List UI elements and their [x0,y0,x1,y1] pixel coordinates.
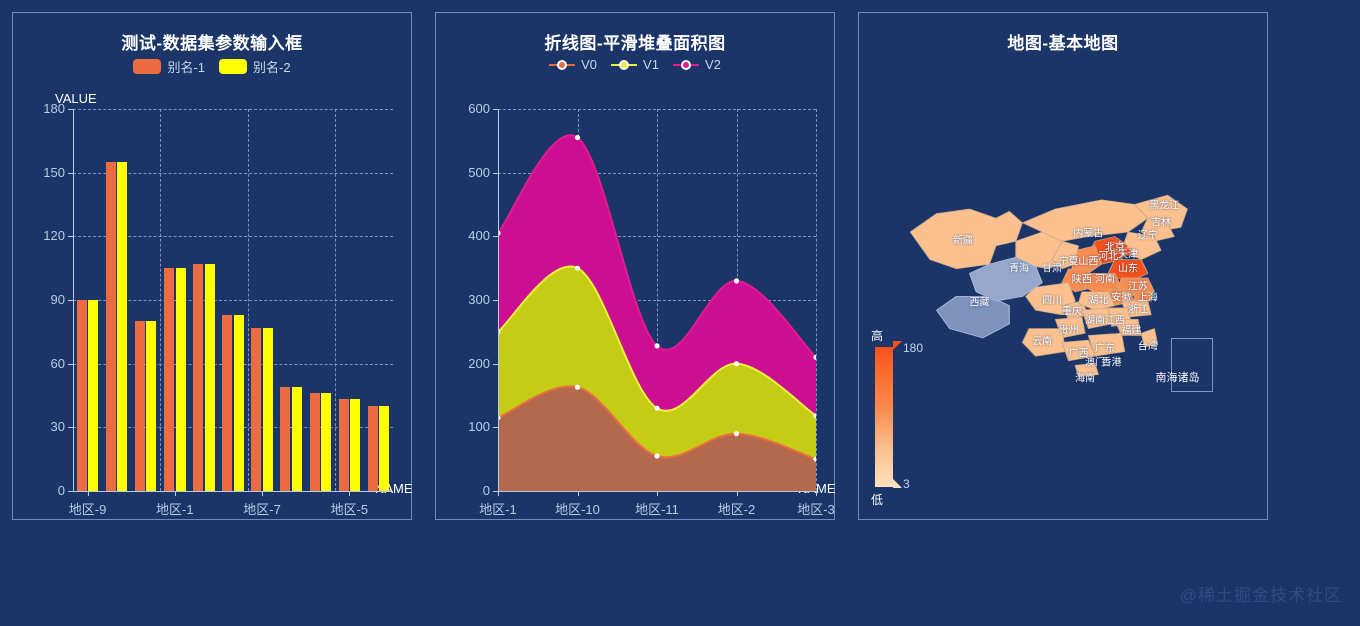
y-tick-label: 500 [442,165,490,180]
map-label-吉林: 吉林 [1151,213,1171,228]
area-chart-plot [498,109,816,491]
data-point-V2-2[interactable] [654,343,659,348]
x-tick-label: 地区-1 [135,499,215,518]
legend-label-v2: V2 [705,57,721,72]
x-tick-mark [88,491,89,496]
map-label-贵州: 贵州 [1059,321,1079,336]
bar-别名-2-8[interactable] [321,393,331,491]
y-tick-label: 400 [442,228,490,243]
y-tick-label: 90 [19,292,65,307]
map-label-福建: 福建 [1121,321,1141,336]
map-label-台湾: 台湾 [1138,337,1158,352]
map-label-甘肃: 甘肃 [1042,259,1062,274]
panel-map-chart: 地图-基本地图 新疆黑龙江吉林辽宁内蒙古北京天津河北山西山东宁夏甘肃青海西藏陕西… [858,12,1268,520]
grid-line-vertical [335,109,336,491]
map-label-辽宁: 辽宁 [1138,227,1158,242]
legend-item-series-1[interactable]: 别名-1 [133,57,205,76]
y-tick-label: 0 [442,483,490,498]
y-tick-label: 0 [19,483,65,498]
bar-别名-2-6[interactable] [263,328,273,491]
x-tick-mark [578,491,579,496]
legend-item-v2[interactable]: V2 [673,57,721,72]
map-label-四川: 四川 [1042,291,1062,306]
bar-别名-1-6[interactable] [251,328,261,491]
bar-别名-1-9[interactable] [339,399,349,491]
x-tick-label: 地区-5 [309,499,389,518]
bar-别名-1-3[interactable] [164,268,174,491]
map-label-新疆: 新疆 [953,231,973,246]
visual-map-high-label: 高 [871,327,883,344]
map-label-香港: 香港 [1102,353,1122,368]
data-point-V1-3[interactable] [734,361,739,366]
y-tick-label: 100 [442,419,490,434]
data-point-V1-2[interactable] [654,406,659,411]
visual-map-low-label: 低 [871,491,883,508]
bar-别名-1-2[interactable] [135,321,145,491]
grid-line-vertical [160,109,161,491]
bar-别名-2-9[interactable] [350,399,360,491]
bar-别名-2-4[interactable] [205,264,215,491]
bar-别名-2-5[interactable] [234,315,244,491]
bar-别名-2-2[interactable] [146,321,156,491]
map-label-河南: 河南 [1095,271,1115,286]
visual-map-legend[interactable]: 高 低 180 3 [869,325,949,515]
x-tick-label: 地区-3 [776,499,856,518]
map-label-天津: 天津 [1118,245,1138,260]
visual-map-low-handle-icon [893,479,902,488]
stacked-area-series [498,109,816,491]
map-label-浙江: 浙江 [1128,300,1148,315]
legend-item-series-2[interactable]: 别名-2 [219,57,291,76]
area-chart-title: 折线图-平滑堆叠面积图 [436,29,834,54]
grid-line-vertical [816,109,817,491]
x-tick-label: 地区-10 [538,499,618,518]
map-label-南海诸岛: 南海诸岛 [1156,369,1200,385]
y-tick-label: 180 [19,101,65,116]
x-tick-mark [816,491,817,496]
legend-item-v1[interactable]: V1 [611,57,659,72]
map-label-陕西: 陕西 [1072,271,1092,286]
x-tick-label: 地区-1 [458,499,538,518]
map-label-内蒙古: 内蒙古 [1073,225,1103,240]
x-tick-label: 地区-9 [48,499,128,518]
area-chart-legend: V0 V1 V2 [436,57,834,72]
map-label-广东: 广东 [1095,340,1115,355]
data-point-V0-2[interactable] [654,453,659,458]
visual-map-max-value: 180 [903,341,923,355]
legend-line-icon [549,59,575,71]
map-label-湖北: 湖北 [1088,291,1108,306]
data-point-V0-1[interactable] [575,385,580,390]
map-label-湖南: 湖南 [1085,312,1105,327]
bar-别名-1-0[interactable] [77,300,87,491]
legend-line-icon [611,59,637,71]
visual-map-min-value: 3 [903,477,910,491]
x-tick-label: 地区-2 [697,499,777,518]
grid-line-vertical [248,109,249,491]
legend-label-series-2: 别名-2 [253,57,291,76]
legend-item-v0[interactable]: V0 [549,57,597,72]
bar-别名-1-8[interactable] [310,393,320,491]
y-tick-label: 200 [442,356,490,371]
bar-chart-legend: 别名-1 别名-2 [13,57,411,76]
x-tick-mark [737,491,738,496]
legend-swatch-icon [133,59,161,74]
x-tick-mark [498,491,499,496]
x-tick-mark [657,491,658,496]
bar-别名-2-10[interactable] [379,406,389,491]
panel-area-chart: 折线图-平滑堆叠面积图 V0 V1 V2 NAME [435,12,835,520]
y-tick-label: 150 [19,165,65,180]
y-axis-line [73,109,74,491]
y-tick-label: 60 [19,356,65,371]
visual-map-high-handle-icon [893,341,902,350]
bar-别名-1-10[interactable] [368,406,378,491]
map-label-山西: 山西 [1078,252,1098,267]
dashboard-root: 测试-数据集参数输入框 别名-1 别名-2 VALUE NAME 0306090… [0,0,1360,626]
map-label-河北: 河北 [1098,248,1118,263]
x-tick-label: 地区-7 [222,499,302,518]
legend-line-icon [673,59,699,71]
x-axis-line [73,491,393,492]
legend-label-v0: V0 [581,57,597,72]
legend-label-v1: V1 [643,57,659,72]
y-axis-line [498,109,499,491]
x-tick-mark [262,491,263,496]
y-tick-label: 120 [19,228,65,243]
bar-别名-1-7[interactable] [280,387,290,491]
map-label-重庆: 重庆 [1062,303,1082,318]
x-tick-label: 地区-11 [617,499,697,518]
map-label-云南: 云南 [1032,333,1052,348]
bar-别名-1-4[interactable] [193,264,203,491]
data-point-V2-3[interactable] [734,278,739,283]
bar-别名-1-1[interactable] [106,162,116,491]
panel-bar-chart: 测试-数据集参数输入框 别名-1 别名-2 VALUE NAME 0306090… [12,12,412,520]
bar-chart-title: 测试-数据集参数输入框 [13,29,411,54]
bar-别名-1-5[interactable] [222,315,232,491]
bar-别名-2-1[interactable] [117,162,127,491]
visual-map-gradient-bar[interactable] [875,347,893,487]
data-point-V1-1[interactable] [575,266,580,271]
legend-label-series-1: 别名-1 [167,57,205,76]
y-tick-label: 30 [19,419,65,434]
bar-别名-2-3[interactable] [176,268,186,491]
watermark: @稀土掘金技术社区 [1180,581,1342,606]
map-label-西藏: 西藏 [970,294,990,309]
map-label-海南: 海南 [1075,369,1095,384]
data-point-V2-1[interactable] [575,135,580,140]
legend-swatch-icon [219,59,247,74]
bar-别名-2-0[interactable] [88,300,98,491]
x-tick-mark [349,491,350,496]
bar-别名-2-7[interactable] [292,387,302,491]
data-point-V0-3[interactable] [734,431,739,436]
map-label-青海: 青海 [1009,259,1029,274]
bar-chart-plot [73,109,393,491]
map-label-黑龙江: 黑龙江 [1149,197,1179,212]
x-tick-mark [175,491,176,496]
grid-line-horizontal [73,109,393,110]
map-label-山东: 山东 [1118,259,1138,274]
y-tick-label: 300 [442,292,490,307]
y-tick-label: 600 [442,101,490,116]
